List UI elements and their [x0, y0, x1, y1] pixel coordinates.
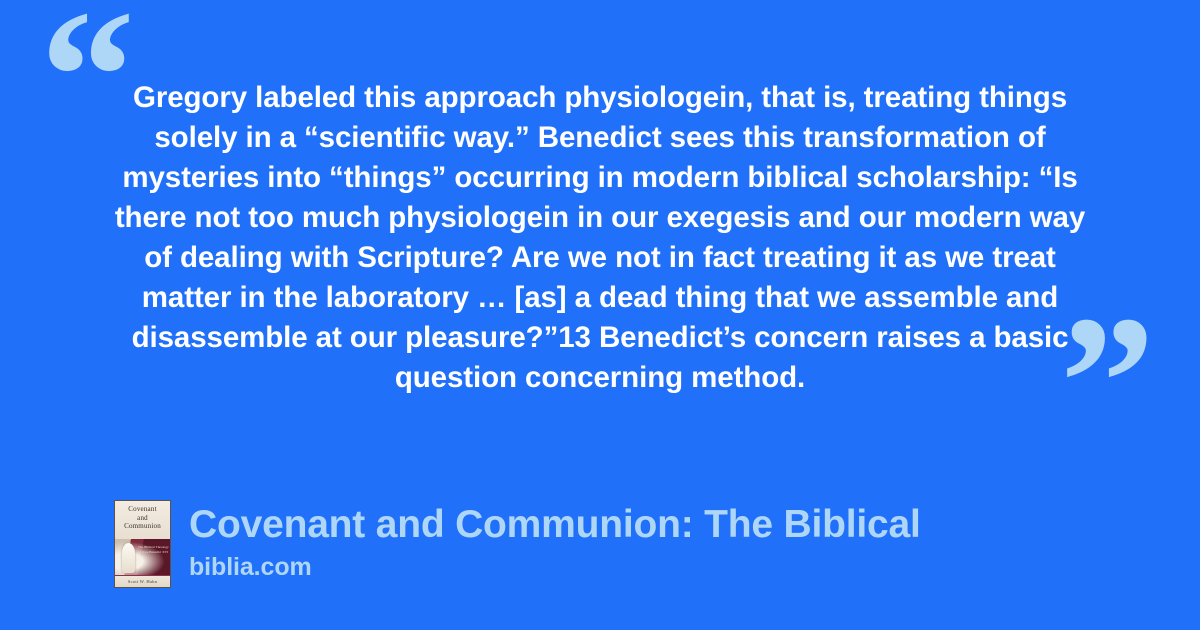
footer-attribution[interactable]: Covenant and Communion The Biblical Theo… [114, 500, 921, 588]
book-cover-figure-icon [122, 543, 135, 573]
closing-quote-icon: ” [1060, 288, 1155, 478]
book-cover-title: Covenant and Communion [115, 505, 170, 531]
book-cover-subtitle: The Biblical Theology of Pope Benedict X… [138, 545, 169, 555]
quote-card: “ Gregory labeled this approach physiolo… [0, 0, 1200, 630]
resource-title[interactable]: Covenant and Communion: The Biblical [189, 502, 921, 548]
footer-text-block: Covenant and Communion: The Biblical bib… [189, 500, 921, 582]
book-cover-thumbnail[interactable]: Covenant and Communion The Biblical Theo… [114, 500, 171, 588]
quote-body-text: Gregory labeled this approach physiologe… [100, 78, 1100, 398]
site-name[interactable]: biblia.com [189, 552, 921, 582]
book-cover-author: Scott W. Hahn [115, 579, 170, 584]
